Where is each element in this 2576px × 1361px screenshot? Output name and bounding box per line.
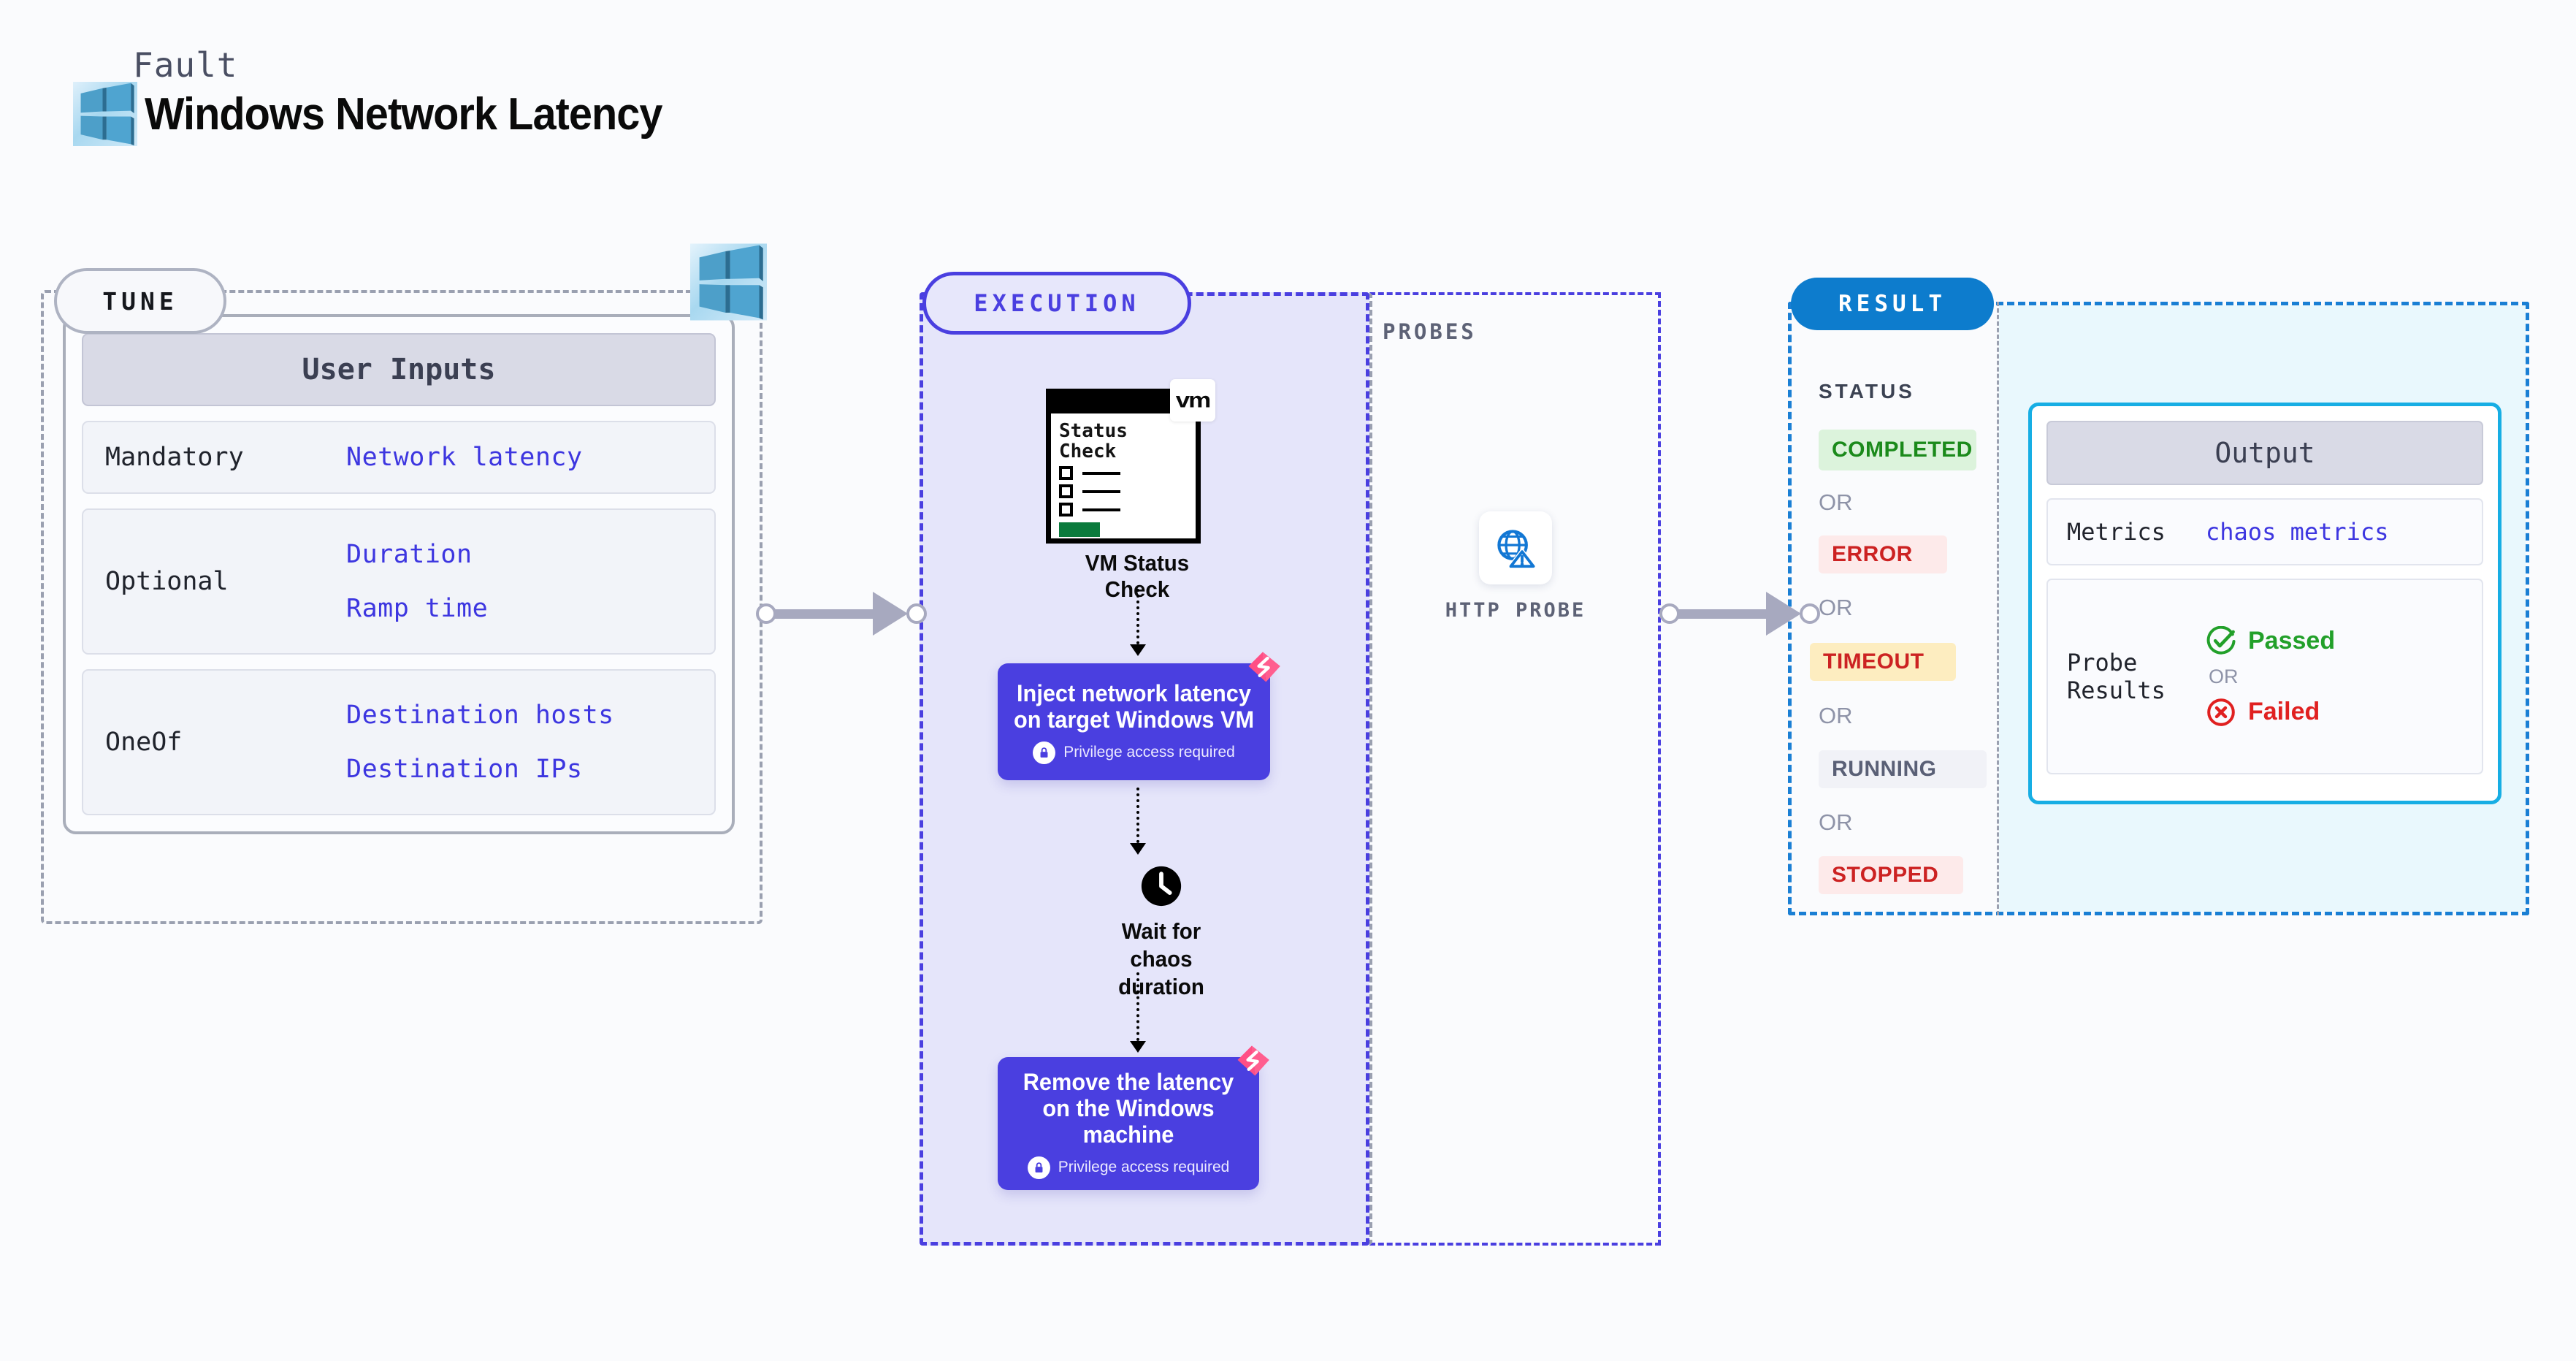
vm-status-check-icon: Status Check vm [1046, 389, 1201, 544]
user-inputs-header: User Inputs [82, 333, 716, 406]
flow-arrow [1136, 972, 1139, 1053]
lock-icon [1033, 742, 1055, 764]
input-group-mandatory: Mandatory Network latency [82, 421, 716, 494]
output-row-metrics: Metrics chaos metrics [2046, 498, 2483, 565]
title-row: Windows Network Latency [73, 80, 701, 148]
result-section-divider [1997, 302, 1999, 915]
privilege-row: Privilege access required [1033, 742, 1235, 764]
probes-section-label: PROBES [1383, 319, 1477, 344]
wait-for-chaos-duration-node[interactable]: Wait for chaos duration [1096, 864, 1227, 1001]
probes-section [1369, 292, 1661, 1246]
checklist-line [1082, 490, 1120, 493]
status-badge-running: RUNNING [1819, 750, 1987, 788]
checkbox-icon [1059, 503, 1073, 516]
connector-end-dot [906, 603, 927, 624]
lock-icon [1028, 1156, 1050, 1179]
user-inputs-card: User Inputs Mandatory Network latency Op… [63, 314, 735, 834]
action-node-title: Remove the latency on the Windows machin… [1003, 1069, 1254, 1148]
litmus-chaos-icon [1233, 1042, 1271, 1080]
execution-section-pill: EXECUTION [922, 272, 1191, 335]
or-separator: OR [1819, 809, 1853, 836]
http-probe-node[interactable]: HTTP PROBE [1439, 511, 1592, 622]
flow-arrow [1136, 589, 1139, 656]
input-group-optional: Optional Duration Ramp time [82, 508, 716, 655]
check-circle-icon [2206, 626, 2236, 657]
page-title: Windows Network Latency [145, 88, 662, 140]
lock-glyph [1038, 747, 1050, 759]
probe-results-values: Passed OR Failed [2206, 626, 2335, 728]
privilege-note: Privilege access required [1058, 1159, 1230, 1176]
action-node-title: Inject network latency on target Windows… [1003, 680, 1264, 733]
output-card: Output Metrics chaos metrics Probe Resul… [2028, 403, 2502, 804]
or-separator: OR [1819, 489, 1853, 516]
checklist-row [1059, 484, 1196, 498]
action-node-remove-latency[interactable]: Remove the latency on the Windows machin… [998, 1057, 1259, 1190]
globe-warning-icon [1493, 525, 1538, 571]
arrow-head [1130, 1041, 1146, 1053]
input-value[interactable]: Duration [346, 540, 488, 569]
checklist-line [1082, 472, 1120, 475]
litmus-chaos-icon [1244, 649, 1282, 687]
input-group-label: Mandatory [105, 443, 346, 472]
input-group-values: Destination hosts Destination IPs [346, 701, 614, 784]
probe-result-passed: Passed [2206, 626, 2335, 657]
probe-results-label: Probe Results [2067, 649, 2206, 704]
connector-start-dot [756, 603, 776, 624]
page-header: Fault Windows Network Latency [73, 45, 701, 148]
lock-glyph [1033, 1162, 1045, 1174]
arrow-head [1130, 843, 1146, 855]
vm-status-check-node[interactable]: Status Check vm VM Status Check [1046, 389, 1228, 603]
output-card-header: Output [2046, 421, 2483, 485]
status-badge-timeout: TIMEOUT [1810, 643, 1956, 681]
checkbox-icon [1059, 484, 1073, 498]
action-node-inject-latency[interactable]: Inject network latency on target Windows… [998, 663, 1270, 780]
arrow-stem [1136, 788, 1139, 843]
metrics-label: Metrics [2067, 518, 2206, 546]
tune-section-pill: TUNE [54, 268, 226, 334]
flow-arrow [1136, 788, 1139, 855]
input-group-label: Optional [105, 567, 346, 596]
checklist-row [1059, 503, 1196, 516]
or-separator: OR [2209, 666, 2335, 688]
status-badge-completed: COMPLETED [1819, 430, 1976, 470]
status-check-text: Status Check [1059, 421, 1196, 462]
wait-node-caption: Wait for chaos duration [1099, 918, 1224, 1001]
vmware-badge-label: vm [1176, 388, 1210, 413]
x-circle-icon [2206, 697, 2236, 728]
or-separator: OR [1819, 595, 1853, 621]
fault-kind-label: Fault [133, 45, 701, 85]
connector-arrowhead [873, 592, 908, 636]
or-separator: OR [1819, 703, 1853, 729]
clock-icon [1139, 864, 1184, 909]
input-group-values: Network latency [346, 443, 583, 472]
input-value[interactable]: Destination hosts [346, 701, 614, 730]
probe-passed-label: Passed [2248, 627, 2335, 655]
connector-arrowhead [1766, 592, 1801, 636]
http-probe-caption: HTTP PROBE [1439, 599, 1592, 622]
connector-tune-to-execution [756, 592, 928, 636]
status-badge-error: ERROR [1819, 535, 1947, 573]
arrow-stem [1136, 972, 1139, 1041]
input-group-label: OneOf [105, 728, 346, 757]
checkbox-icon [1059, 466, 1073, 480]
windows-logo-icon [690, 241, 767, 323]
connector-end-dot [1800, 603, 1820, 624]
probe-result-failed: Failed [2206, 697, 2335, 728]
input-value[interactable]: Destination IPs [346, 755, 614, 784]
windows-logo-icon [73, 80, 137, 148]
status-badge-stopped: STOPPED [1819, 856, 1963, 894]
input-value[interactable]: Ramp time [346, 594, 488, 623]
connector-execution-to-result [1659, 592, 1820, 636]
vmware-badge-icon: vm [1170, 379, 1215, 422]
status-column-label: STATUS [1819, 380, 1915, 403]
checklist-line [1082, 508, 1120, 511]
status-ok-bar [1059, 522, 1100, 537]
window-body: Status Check [1051, 413, 1196, 537]
privilege-row: Privilege access required [1028, 1156, 1230, 1179]
input-value[interactable]: Network latency [346, 443, 583, 472]
input-group-oneof: OneOf Destination hosts Destination IPs [82, 669, 716, 815]
arrow-stem [1136, 589, 1139, 644]
input-group-values: Duration Ramp time [346, 540, 488, 623]
privilege-note: Privilege access required [1063, 744, 1235, 761]
output-row-probe-results: Probe Results Passed OR Failed [2046, 579, 2483, 774]
checklist-row [1059, 466, 1196, 480]
probe-tile [1479, 511, 1552, 584]
connector-start-dot [1659, 603, 1680, 624]
probe-failed-label: Failed [2248, 698, 2320, 726]
metrics-value[interactable]: chaos metrics [2206, 518, 2388, 546]
arrow-head [1130, 644, 1146, 656]
result-section-pill: RESULT [1791, 278, 1994, 330]
